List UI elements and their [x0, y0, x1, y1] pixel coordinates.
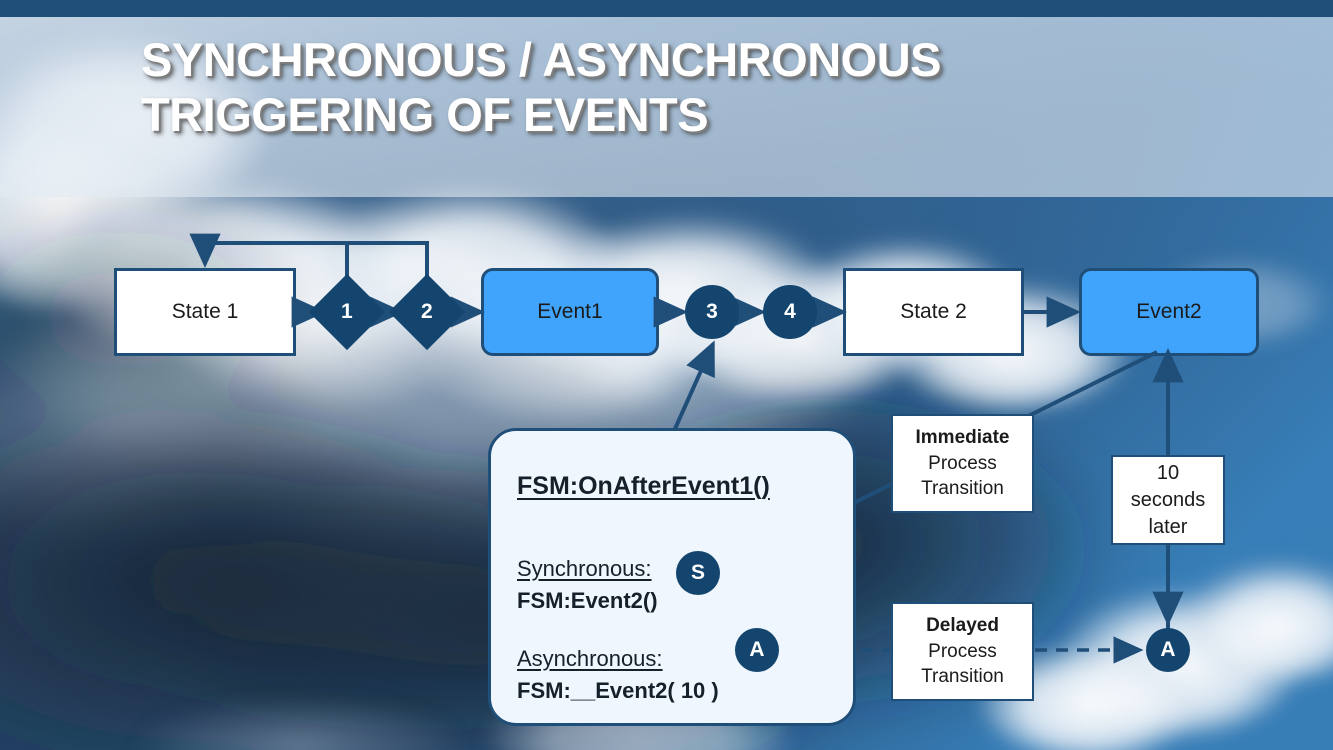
sync-badge-label: S — [691, 561, 705, 585]
edge-loop-1-to-state1 — [205, 243, 347, 285]
fsm-async-label: Asynchronous: — [517, 646, 663, 672]
step-marker-4[interactable]: 4 — [763, 285, 817, 339]
note-immediate-line-3: Transition — [921, 476, 1004, 502]
step-marker-2-label: 2 — [421, 300, 433, 324]
note-delayed-line-2: Process — [928, 639, 997, 665]
note-delayed-line-1: Delayed — [926, 613, 999, 639]
fsm-sync-call: FSM:Event2() — [517, 588, 658, 614]
note-immediate-line-1: Immediate — [916, 425, 1010, 451]
step-marker-3-label: 3 — [706, 300, 718, 324]
note-delayed-transition: Delayed Process Transition — [891, 602, 1034, 701]
note-timer-line-3: later — [1149, 514, 1188, 541]
note-immediate-transition: Immediate Process Transition — [891, 414, 1034, 513]
note-timer-delay: 10 seconds later — [1111, 455, 1225, 545]
async-arrival-badge-label: A — [1160, 638, 1175, 662]
note-delayed-line-3: Transition — [921, 664, 1004, 690]
edge-fsm-to-3 — [670, 344, 713, 440]
note-immediate-line-2: Process — [928, 451, 997, 477]
fsm-callout-title: FSM:OnAfterEvent1() — [517, 472, 770, 501]
async-badge-label: A — [749, 638, 764, 662]
fsm-async-call: FSM:__Event2( 10 ) — [517, 678, 719, 704]
step-marker-4-label: 4 — [784, 300, 796, 324]
step-marker-3[interactable]: 3 — [685, 285, 739, 339]
note-timer-line-2: seconds — [1131, 487, 1206, 514]
note-timer-line-1: 10 — [1157, 460, 1179, 487]
async-badge[interactable]: A — [735, 628, 779, 672]
fsm-sync-label: Synchronous: — [517, 556, 652, 582]
step-marker-1-label: 1 — [341, 300, 353, 324]
slide-canvas: SYNCHRONOUS / ASYNCHRONOUS TRIGGERING OF… — [0, 0, 1333, 750]
async-arrival-badge[interactable]: A — [1146, 628, 1190, 672]
fsm-callout-box[interactable]: FSM:OnAfterEvent1() Synchronous: FSM:Eve… — [488, 428, 856, 726]
sync-badge[interactable]: S — [676, 551, 720, 595]
edge-loop-2-join — [347, 243, 427, 285]
